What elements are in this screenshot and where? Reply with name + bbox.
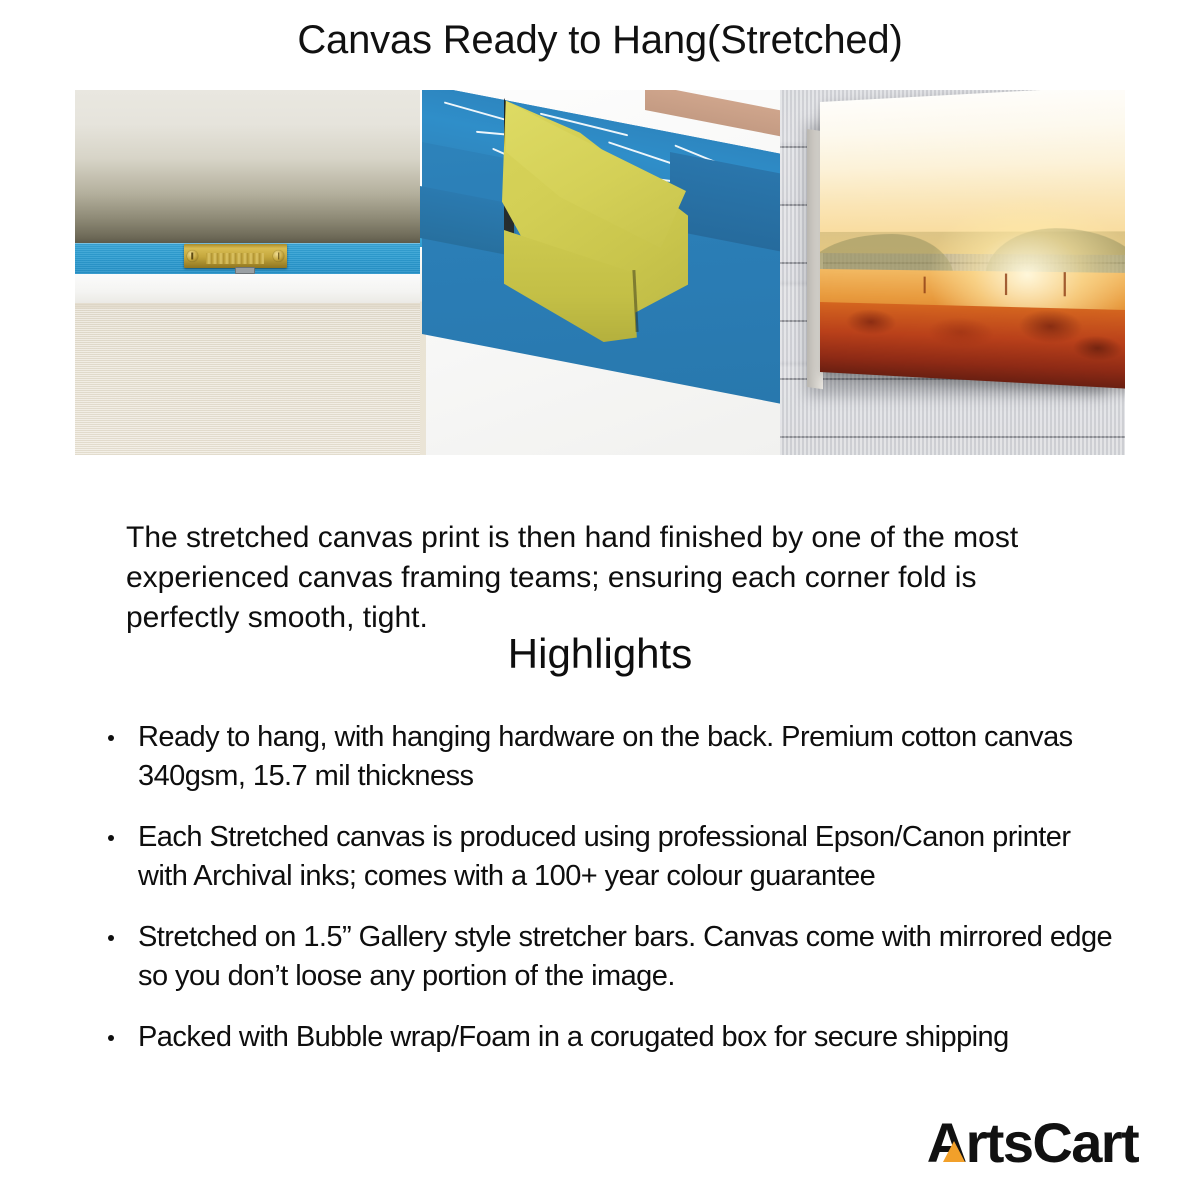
- print-town-spire: [1064, 272, 1066, 296]
- canvas-white-gap: [75, 274, 420, 303]
- brand-logo[interactable]: ArtsCart: [927, 1114, 1138, 1172]
- canvas-back-top-edge: [75, 303, 420, 308]
- gallery-image-canvas-back-hanging-hardware[interactable]: [75, 90, 420, 455]
- triangle-icon: [943, 1141, 965, 1162]
- canvas-cotton-back: [75, 303, 420, 455]
- list-item-text: Ready to hang, with hanging hardware on …: [138, 721, 1073, 792]
- page-title: Canvas Ready to Hang(Stretched): [0, 14, 1200, 66]
- highlights-list: Ready to hang, with hanging hardware on …: [104, 718, 1114, 1079]
- wall-nail: [235, 267, 255, 274]
- gallery-image-canvas-corner-fold[interactable]: [420, 90, 780, 455]
- bullet-icon: [108, 735, 114, 741]
- hanger-screw-right: [273, 251, 284, 262]
- wall-backdrop: [75, 90, 420, 243]
- list-item: Ready to hang, with hanging hardware on …: [104, 718, 1114, 796]
- print-town-spire: [924, 277, 926, 294]
- gallery-image-canvas-hanging-on-wood-wall[interactable]: [780, 90, 1125, 455]
- bullet-icon: [108, 835, 114, 841]
- hanger-teeth: [206, 253, 264, 264]
- list-item: Stretched on 1.5” Gallery style stretche…: [104, 918, 1114, 996]
- highlights-heading: Highlights: [0, 628, 1200, 680]
- bullet-icon: [108, 935, 114, 941]
- list-item: Each Stretched canvas is produced using …: [104, 818, 1114, 896]
- list-item: Packed with Bubble wrap/Foam in a coruga…: [104, 1018, 1114, 1057]
- list-item-text: Stretched on 1.5” Gallery style stretche…: [138, 921, 1112, 992]
- sawtooth-hanger-icon: [184, 244, 288, 267]
- print-town-spire: [1005, 274, 1007, 296]
- product-image-strip: [75, 90, 1125, 455]
- hanger-screw-left: [187, 251, 198, 262]
- intro-paragraph: The stretched canvas print is then hand …: [126, 518, 1081, 638]
- list-item-text: Each Stretched canvas is produced using …: [138, 821, 1070, 892]
- list-item-text: Packed with Bubble wrap/Foam in a coruga…: [138, 1021, 1009, 1053]
- bullet-icon: [108, 1035, 114, 1041]
- sunset-landscape-print: [820, 90, 1125, 389]
